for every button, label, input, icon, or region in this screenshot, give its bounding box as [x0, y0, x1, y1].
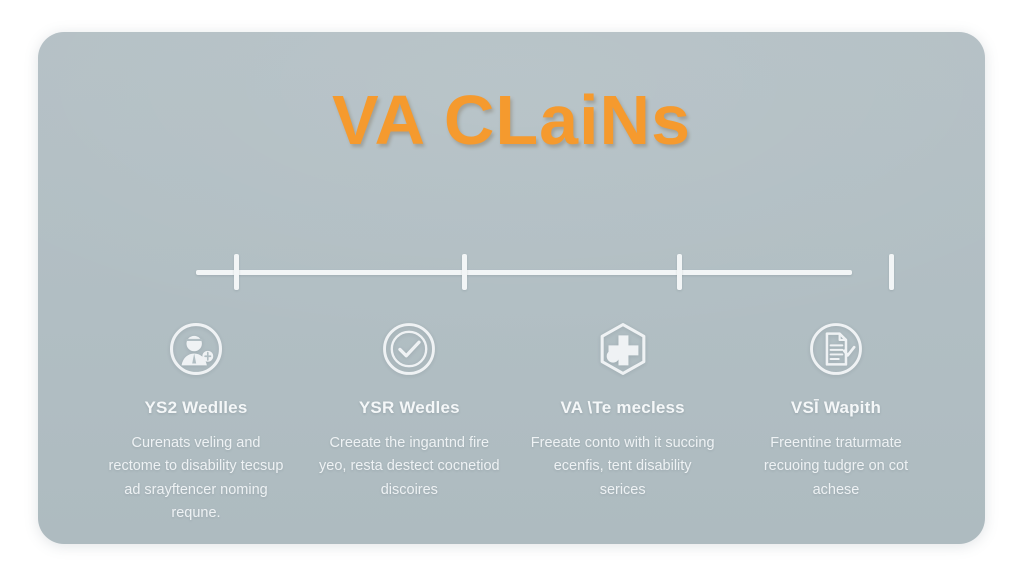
checkmark-circle-icon [380, 320, 438, 378]
timeline-tick-3 [677, 254, 682, 290]
timeline-step-4: VSĪ Wapith Freentine traturmate recuoing… [736, 320, 936, 526]
step-body: Curenats veling and rectome to disabilit… [104, 432, 289, 526]
timeline-tick-2 [462, 254, 467, 290]
step-heading: YS2 Wedlles [145, 398, 248, 418]
screenshot-root: VA CLaiNs YS2 Wedlles [0, 0, 1024, 576]
timeline-axis-line [196, 270, 852, 275]
timeline-steps: YS2 Wedlles Curenats veling and rectome … [96, 320, 936, 526]
step-heading: YSR Wedles [359, 398, 460, 418]
document-checklist-circle-icon [807, 320, 865, 378]
timeline [196, 253, 852, 293]
infographic-card: VA CLaiNs YS2 Wedlles [38, 32, 985, 544]
step-heading: VSĪ Wapith [791, 398, 881, 418]
timeline-step-3: VA \Te mecless Freeate conto with it suc… [523, 320, 723, 526]
veteran-person-circle-icon [167, 320, 225, 378]
timeline-tick-4 [889, 254, 894, 290]
medical-shield-cross-icon [594, 320, 652, 378]
timeline-step-1: YS2 Wedlles Curenats veling and rectome … [96, 320, 296, 526]
timeline-tick-1 [234, 254, 239, 290]
step-body: Freentine traturmate recuoing tudgre on … [743, 432, 928, 502]
page-title: VA CLaiNs [38, 80, 985, 160]
step-heading: VA \Te mecless [560, 398, 684, 418]
timeline-step-2: YSR Wedles Creeate the ingantnd fire yeo… [309, 320, 509, 526]
step-body: Creeate the ingantnd fire yeo, resta des… [317, 432, 502, 502]
step-body: Freeate conto with it succing ecenfis, t… [530, 432, 715, 502]
